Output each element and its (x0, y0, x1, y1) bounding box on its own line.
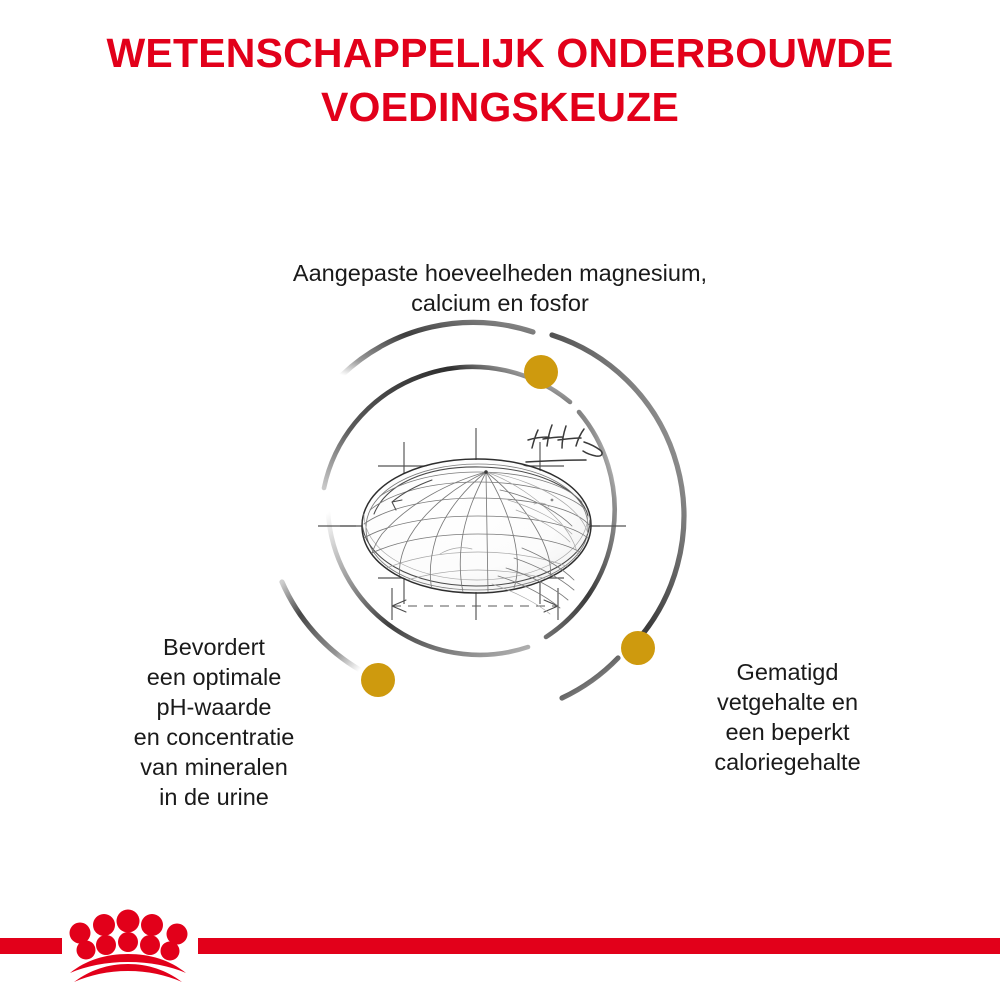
royal-canin-logo (0, 900, 1000, 1000)
kibble-sketch (362, 459, 591, 614)
kibble-diagram-svg (300, 320, 700, 720)
gold-dot-top (524, 355, 558, 389)
page-title-line-1: WETENSCHAPPELIJK ONDERBOUWDE (107, 30, 894, 76)
infographic-page: WETENSCHAPPELIJK ONDERBOUWDE VOEDINGSKEU… (0, 0, 1000, 1000)
outer-arc-segment-top-left (342, 322, 533, 375)
benefit-label-top: Aangepaste hoeveelheden magnesium, calci… (230, 258, 770, 318)
outer-arc-segment-bottom-right (562, 658, 618, 698)
gold-dot-left (361, 663, 395, 697)
page-title-line-2: VOEDINGSKEUZE (0, 80, 1000, 134)
kibble-diagram (300, 320, 700, 720)
kibble-apex-point (484, 470, 488, 474)
page-title: WETENSCHAPPELIJK ONDERBOUWDE VOEDINGSKEU… (0, 26, 1000, 134)
outer-arc-segment-right (552, 335, 684, 642)
logo-rule-left (0, 938, 62, 954)
gold-dot-right (621, 631, 655, 665)
royal-canin-logo-svg (0, 900, 1000, 1000)
royal-canin-crown-icon (70, 910, 188, 983)
logo-rule-right (198, 938, 1000, 954)
